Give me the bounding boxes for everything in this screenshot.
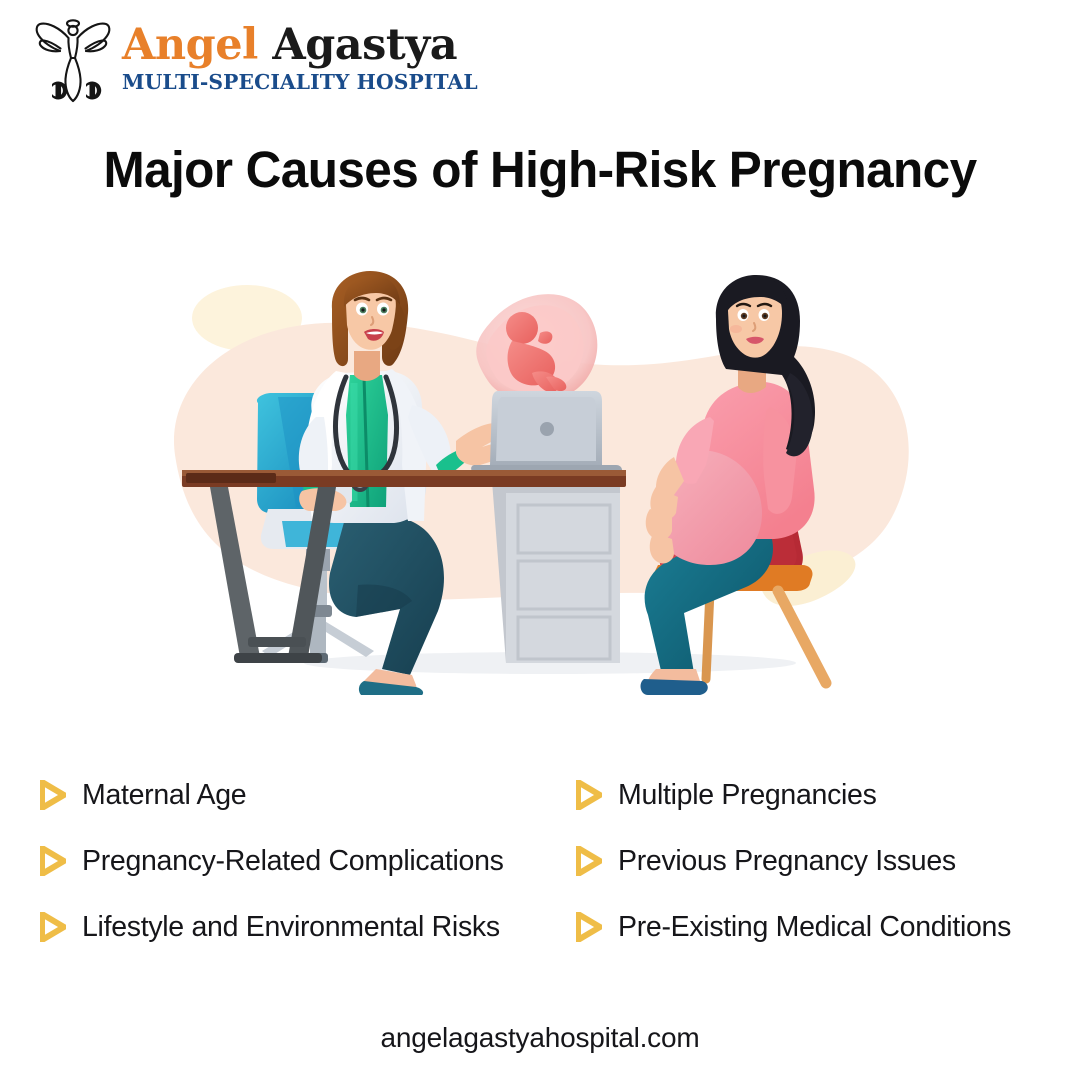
pregnant-patient-figure [641,275,816,695]
triangle-arrow-icon [40,846,66,876]
fetus-in-womb-icon [476,294,597,402]
cause-item-multiple-pregnancies[interactable]: Multiple Pregnancies [568,779,1050,812]
brand-name-part1: Angel [122,20,258,70]
cause-item-previous-pregnancy-issues[interactable]: Previous Pregnancy Issues [568,845,1050,878]
page-title: Major Causes of High-Risk Pregnancy [16,140,1064,199]
cause-item-maternal-age[interactable]: Maternal Age [40,779,568,812]
triangle-arrow-icon [40,780,66,810]
triangle-arrow-icon [40,912,66,942]
doctor-consulting-pregnant-patient-illustration [150,265,940,695]
brand-logo[interactable]: Angel Agastya MULTI-SPECIALITY HOSPITAL [30,12,481,104]
cause-label: Previous Pregnancy Issues [618,845,956,878]
cause-label: Lifestyle and Environmental Risks [82,911,500,944]
laptop [471,391,622,475]
brand-name-part2: Agastya [258,20,457,70]
brand-wordmark: Angel Agastya [122,24,481,68]
angel-wings-icon [30,12,116,104]
footer-website-url[interactable]: angelagastyahospital.com [0,1022,1080,1054]
brand-tagline: MULTI-SPECIALITY HOSPITAL [122,70,478,95]
drawer-cabinet [490,471,620,663]
cause-item-pregnancy-related-complications[interactable]: Pregnancy-Related Complications [40,845,568,878]
triangle-arrow-icon [576,912,602,942]
cause-label: Maternal Age [82,779,246,812]
cause-item-pre-existing-medical-conditions[interactable]: Pre-Existing Medical Conditions [568,911,1050,944]
cause-item-lifestyle-and-environmental-risks[interactable]: Lifestyle and Environmental Risks [40,911,568,944]
brand-logo-text: Angel Agastya MULTI-SPECIALITY HOSPITAL [122,22,481,94]
cause-label: Multiple Pregnancies [618,779,877,812]
causes-list: Maternal Age Multiple Pregnancies Pregna… [40,762,1050,960]
triangle-arrow-icon [576,780,602,810]
cause-label: Pre-Existing Medical Conditions [618,911,1011,944]
triangle-arrow-icon [576,846,602,876]
cause-label: Pregnancy-Related Complications [82,845,504,878]
